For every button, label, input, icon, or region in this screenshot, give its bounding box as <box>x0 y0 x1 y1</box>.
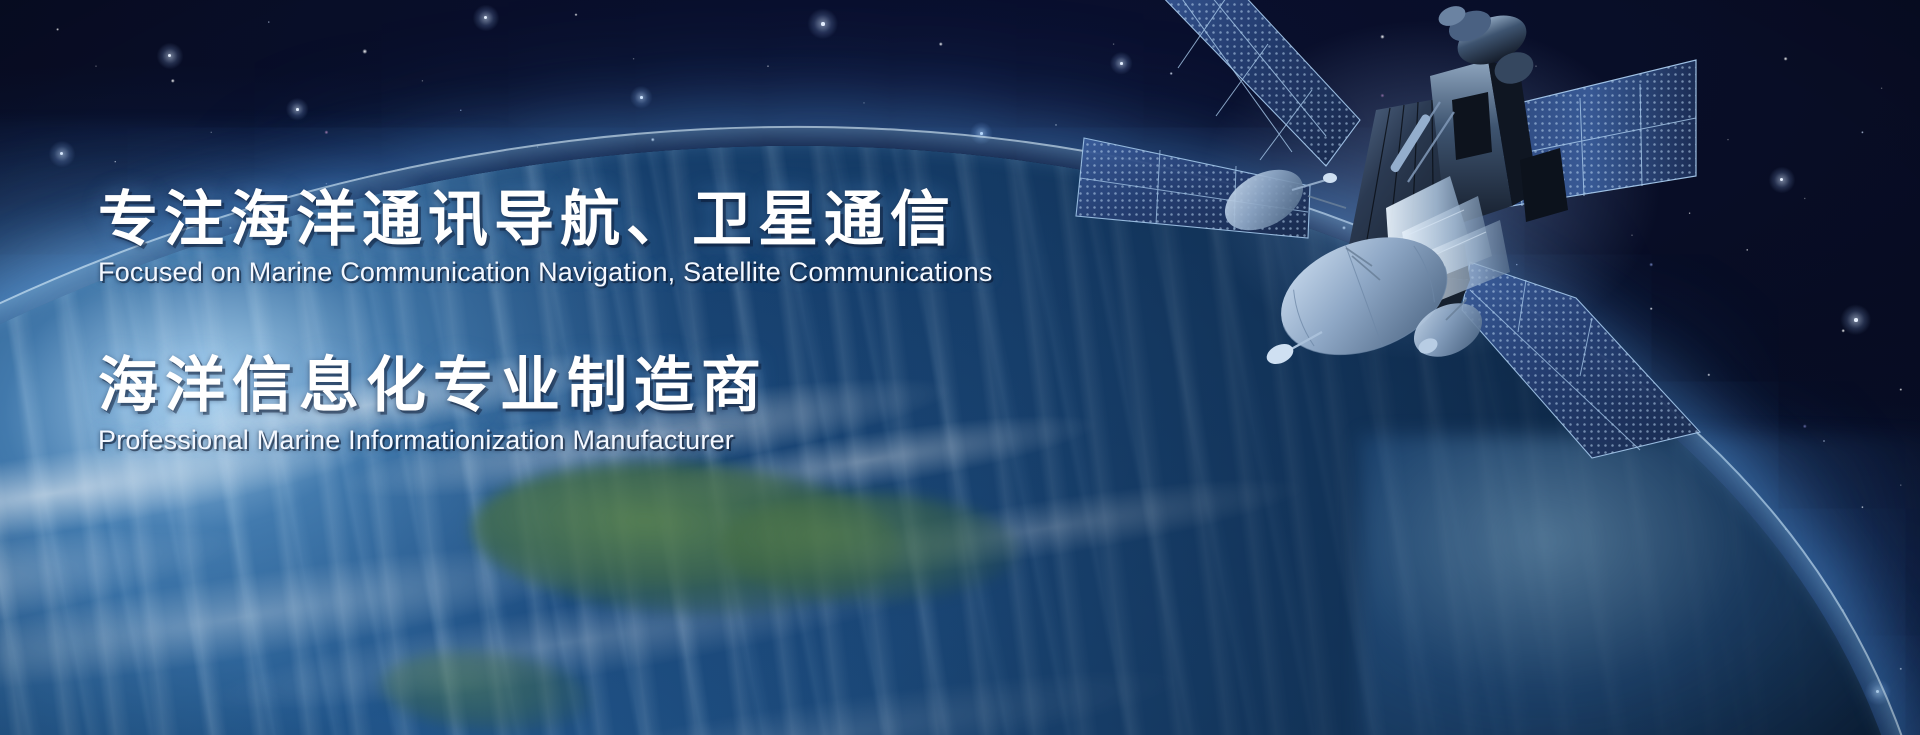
subheadline-en-1: Focused on Marine Communication Navigati… <box>98 257 993 288</box>
headline-block-2: 海洋信息化专业制造商 Professional Marine Informati… <box>98 354 993 456</box>
headline-block-1: 专注海洋通讯导航、卫星通信 Focused on Marine Communic… <box>98 188 993 288</box>
bright-star <box>168 54 171 57</box>
hero-banner: 专注海洋通讯导航、卫星通信 Focused on Marine Communic… <box>0 0 1920 735</box>
bright-star <box>60 152 63 155</box>
bright-star <box>1504 122 1507 125</box>
bright-star <box>484 16 487 19</box>
banner-copy: 专注海洋通讯导航、卫星通信 Focused on Marine Communic… <box>98 188 993 456</box>
bright-star <box>1876 690 1879 693</box>
subheadline-en-2: Professional Marine Informationization M… <box>98 425 993 456</box>
headline-cn-1: 专注海洋通讯导航、卫星通信 <box>98 188 993 253</box>
bright-star <box>1120 62 1123 65</box>
bright-star <box>1780 178 1783 181</box>
bright-star <box>821 22 825 26</box>
bright-star <box>1854 318 1858 322</box>
bright-star <box>640 96 643 99</box>
headline-cn-2: 海洋信息化专业制造商 <box>98 354 993 419</box>
bright-star <box>296 108 299 111</box>
bright-star <box>980 132 983 135</box>
